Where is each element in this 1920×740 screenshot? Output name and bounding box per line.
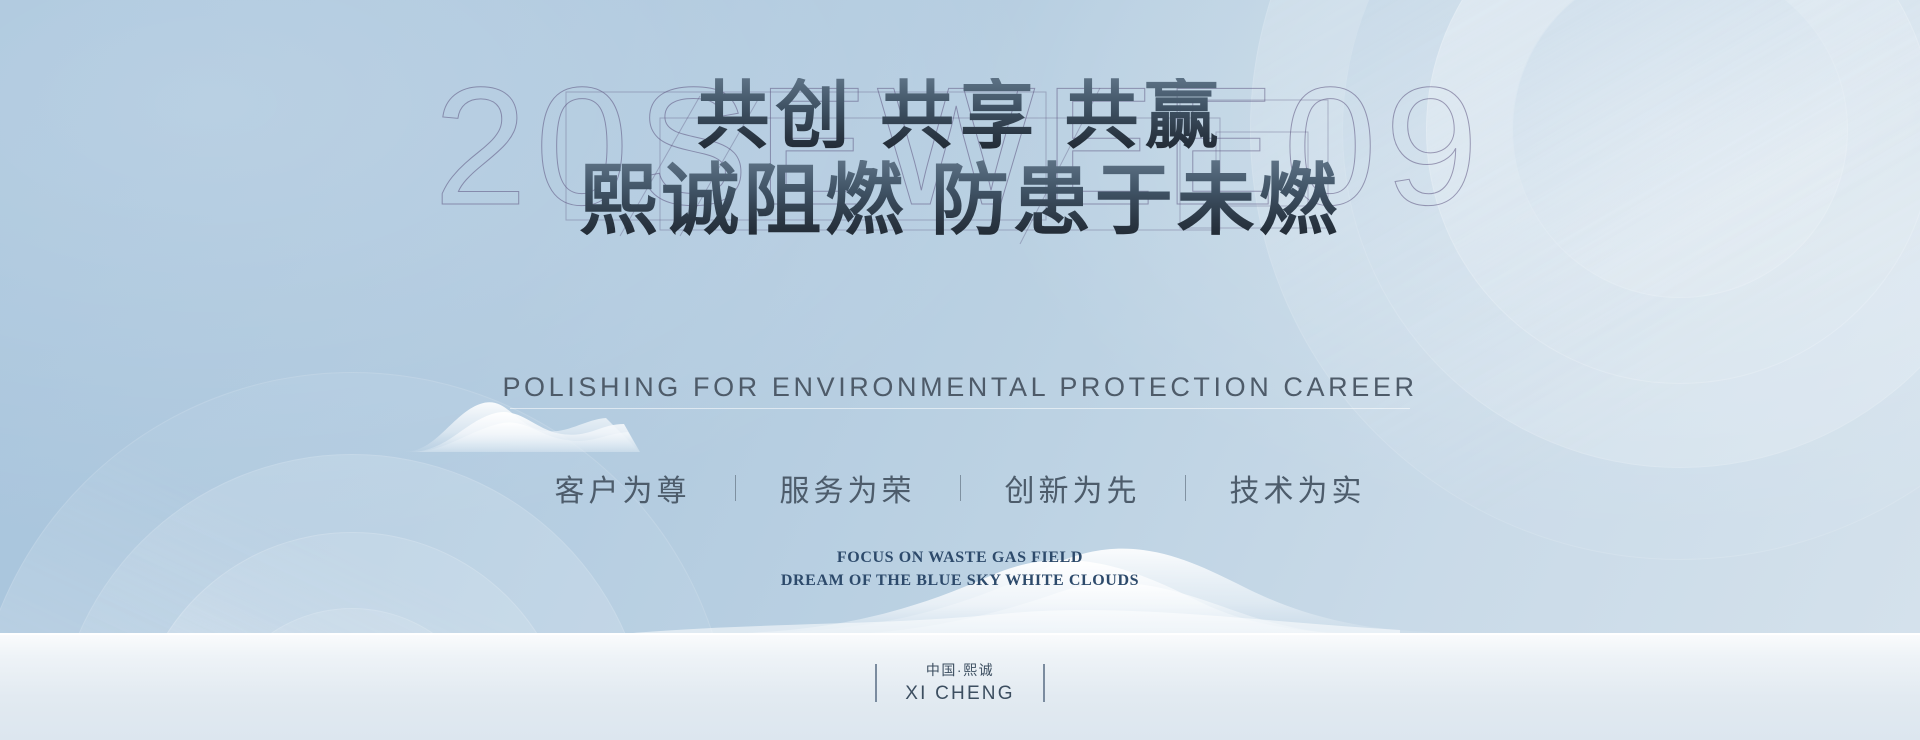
logo-text: 中国·熙诚 XI CHENG [905, 660, 1014, 707]
value-item-1: 客户为尊 [555, 466, 691, 510]
values-row: 客户为尊 服务为荣 创新为先 技术为实 [0, 466, 1920, 510]
slogan-block: FOCUS ON WASTE GAS FIELD DREAM OF THE BL… [0, 546, 1920, 592]
ground-highlight-line [0, 633, 1920, 635]
value-separator-3 [1185, 475, 1186, 501]
value-item-2: 服务为荣 [780, 466, 916, 510]
logo-chinese: 中国·熙诚 [905, 660, 1014, 681]
slogan-line-1: FOCUS ON WASTE GAS FIELD [0, 546, 1920, 569]
value-item-3: 创新为先 [1005, 466, 1141, 510]
headline-line-1: 共创 共享 共赢 [0, 78, 1920, 156]
logo-bar-left [875, 664, 877, 702]
subtitle-underline [510, 408, 1410, 409]
headline-line-2: 熙诚阻燃 防患于未燃 [0, 160, 1920, 243]
slogan-line-2: DREAM OF THE BLUE SKY WHITE CLOUDS [0, 569, 1920, 592]
banner-stage: 20SEWEE09 [0, 0, 1920, 740]
brand-logo: 中国·熙诚 XI CHENG [0, 660, 1920, 707]
subtitle-text: POLISHING FOR ENVIRONMENTAL PROTECTION C… [0, 372, 1920, 403]
value-separator-2 [960, 475, 961, 501]
logo-english: XI CHENG [905, 681, 1014, 707]
value-item-4: 技术为实 [1230, 466, 1366, 510]
headline-block: 共创 共享 共赢 熙诚阻燃 防患于未燃 [0, 78, 1920, 243]
logo-bar-right [1043, 664, 1045, 702]
value-separator-1 [735, 475, 736, 501]
